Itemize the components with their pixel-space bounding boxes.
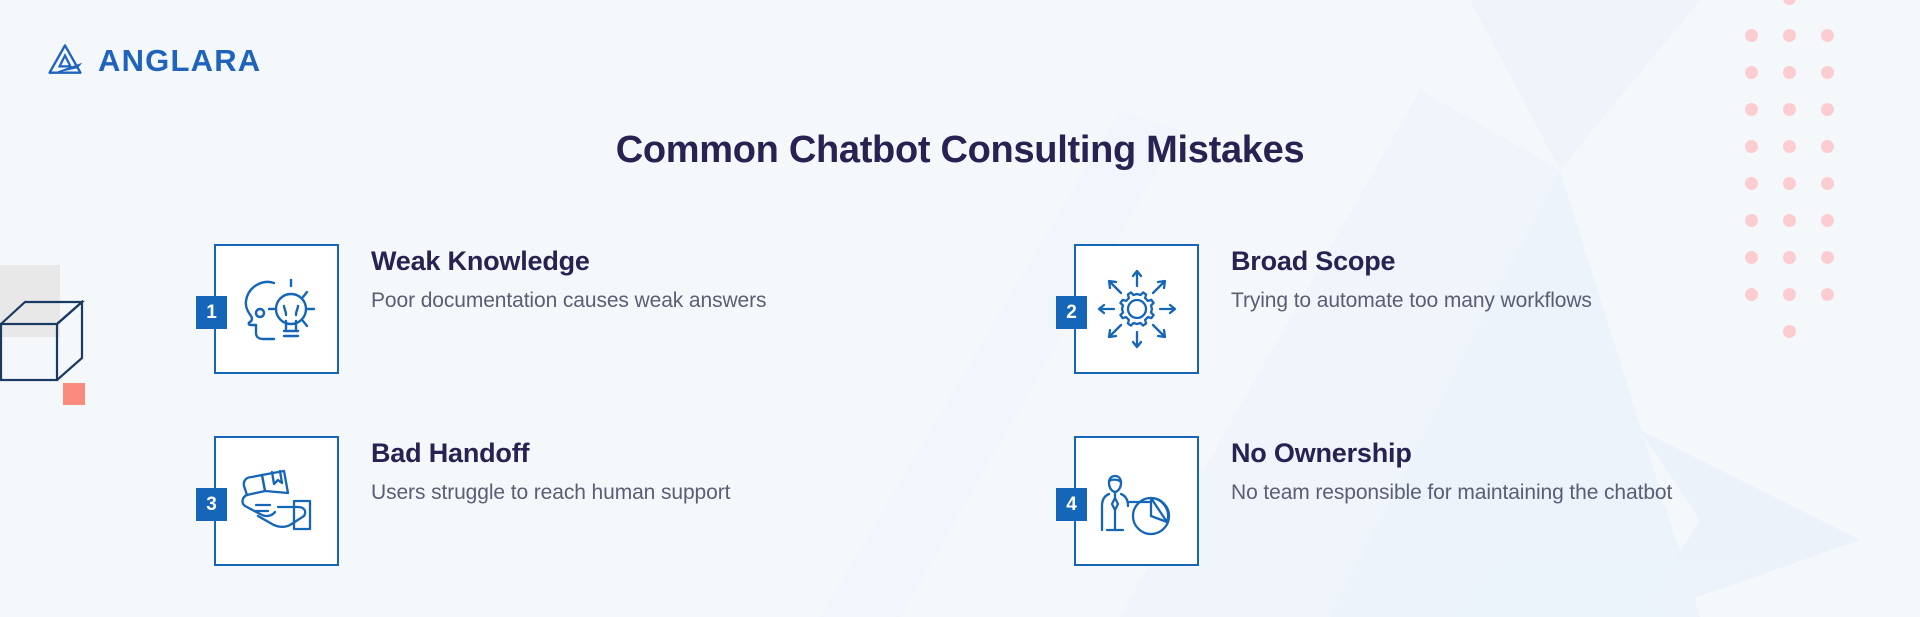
person-with-pie-chart-icon — [1093, 460, 1181, 542]
item-text: Bad Handoff Users struggle to reach huma… — [337, 430, 730, 507]
handoff-package-handshake-icon — [232, 461, 322, 541]
item-number-badge: 2 — [1056, 296, 1087, 329]
item-number-badge: 4 — [1056, 488, 1087, 521]
item-text: Broad Scope Trying to automate too many … — [1197, 238, 1592, 315]
icon-box — [214, 436, 339, 566]
item-number-badge: 3 — [196, 488, 227, 521]
icon-box — [1074, 436, 1199, 566]
item-description: Poor documentation causes weak answers — [371, 287, 766, 315]
mistakes-grid: 1 Weak Knowledge Poor documentation caus… — [0, 238, 1920, 570]
icon-container: 3 — [205, 430, 337, 570]
icon-box — [1074, 244, 1199, 374]
item-description: No team responsible for maintaining the … — [1231, 479, 1672, 507]
item-title: Broad Scope — [1231, 246, 1592, 278]
icon-container: 2 — [1065, 238, 1197, 378]
item-title: Weak Knowledge — [371, 246, 766, 278]
gear-with-arrows-icon — [1093, 266, 1181, 352]
icon-container: 4 — [1065, 430, 1197, 570]
brand-logo[interactable]: ANGLARA — [45, 40, 261, 80]
item-title: Bad Handoff — [371, 438, 730, 470]
icon-container: 1 — [205, 238, 337, 378]
item-text: No Ownership No team responsible for mai… — [1197, 430, 1672, 507]
item-number-badge: 1 — [196, 296, 227, 329]
item-description: Trying to automate too many workflows — [1231, 287, 1592, 315]
item-description: Users struggle to reach human support — [371, 479, 730, 507]
list-item: 2 Broad Scope Trying to automate too man… — [1065, 238, 1920, 378]
brand-name: ANGLARA — [98, 45, 261, 76]
list-item: 3 Bad Handoff Users struggle to reach hu… — [205, 430, 1065, 570]
list-item: 4 No Ownership No team responsible for m… — [1065, 430, 1920, 570]
anglara-triangle-logo-icon — [45, 40, 85, 80]
list-item: 1 Weak Knowledge Poor documentation caus… — [205, 238, 1065, 378]
head-with-lightbulb-icon — [234, 269, 320, 349]
item-text: Weak Knowledge Poor documentation causes… — [337, 238, 766, 315]
page-title: Common Chatbot Consulting Mistakes — [0, 129, 1920, 172]
item-title: No Ownership — [1231, 438, 1672, 470]
icon-box — [214, 244, 339, 374]
